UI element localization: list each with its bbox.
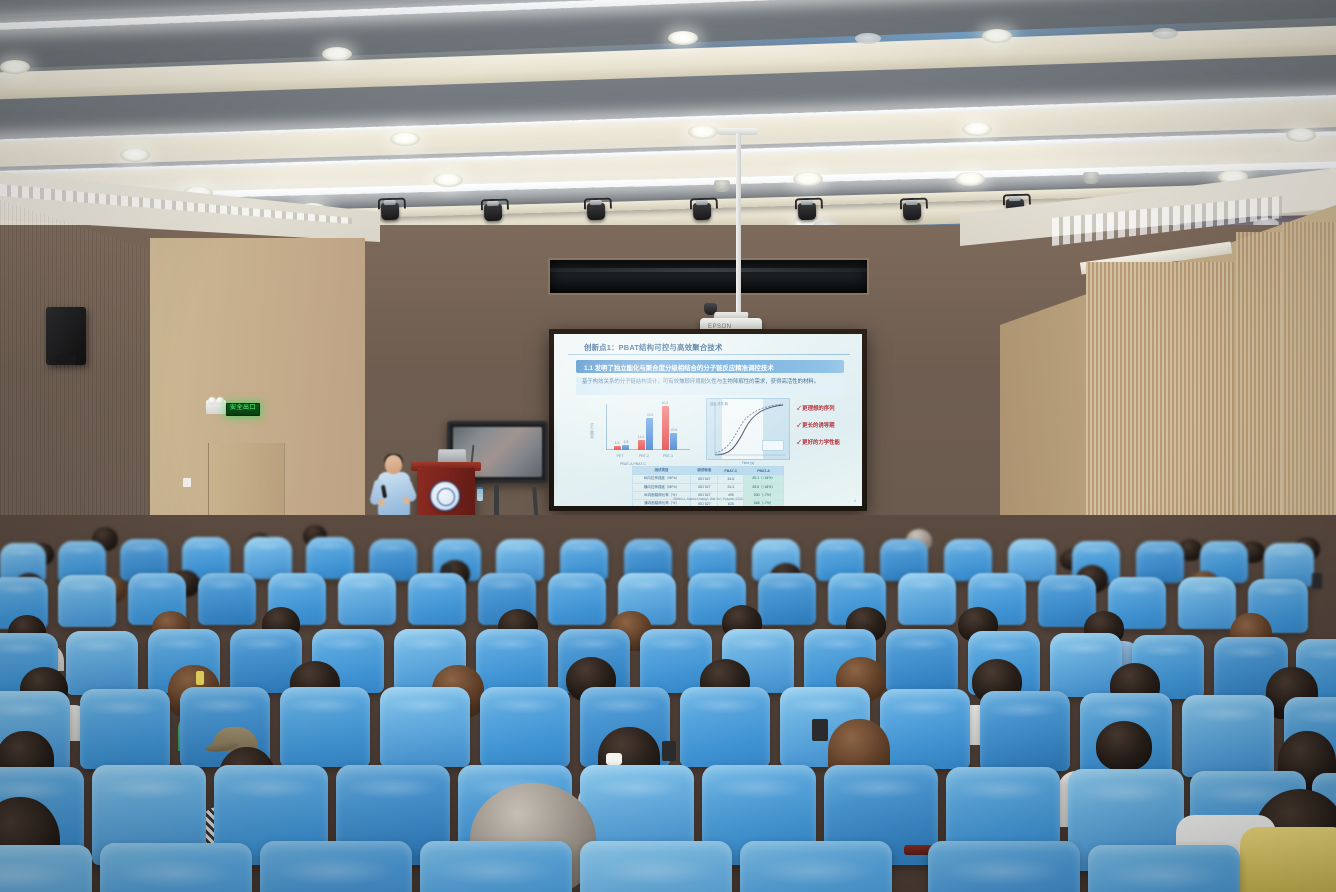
table-cell: 40.1（↑16%）: [744, 475, 784, 483]
bar-red: [638, 440, 645, 450]
seat[interactable]: [408, 573, 466, 625]
slide-title-rule: [568, 354, 850, 355]
downlight: [962, 122, 992, 136]
smoke-detector-icon: [855, 33, 881, 44]
downlight: [1286, 128, 1316, 142]
auditorium-photo: 安全出口 EPSON 创新点1：PBAT结构可控与高效聚合技术 1.1 发明了独…: [0, 0, 1336, 892]
bar-value: 11.4: [638, 435, 644, 439]
table-header-cell: PBAT-A: [744, 467, 784, 475]
seat[interactable]: [58, 575, 116, 627]
seat[interactable]: [880, 689, 970, 769]
projection-screen: 创新点1：PBAT结构可控与高效聚合技术 1.1 发明了独立酯化与聚合度分级相结…: [554, 334, 862, 506]
seat[interactable]: [0, 845, 92, 892]
table-cell: ISO 527: [691, 483, 718, 491]
bar-value: 4.3: [615, 441, 620, 445]
hair-clip: [196, 671, 204, 685]
bar-value: 43.9: [647, 413, 654, 417]
table-cell: 横向拉伸强度（MPa）: [633, 483, 691, 491]
line-chart-xlabel: Time (s): [742, 461, 754, 465]
line-chart-legend: [762, 440, 784, 451]
podium-emblem: [430, 481, 460, 511]
bar-group-label: PBT-2: [639, 454, 649, 458]
led-display-band: [548, 258, 869, 295]
seat[interactable]: [260, 841, 412, 892]
exit-sign: 安全出口: [226, 403, 260, 416]
seat[interactable]: [548, 573, 606, 625]
hair-tie: [606, 753, 622, 765]
downlight: [982, 29, 1012, 43]
seat[interactable]: [758, 573, 816, 625]
seat[interactable]: [66, 631, 138, 695]
projection-screen-frame: 创新点1：PBAT结构可控与高效聚合技术 1.1 发明了独立酯化与聚合度分级相结…: [549, 329, 867, 511]
table-row: 横向拉伸强度（MPa） ISO 527 24.3 28.6（↑18%）: [633, 483, 784, 491]
downlight: [322, 47, 352, 61]
seat[interactable]: [480, 687, 570, 767]
audience-shoulders: [1240, 827, 1336, 892]
table-cell: ISO 527: [691, 475, 718, 483]
seat[interactable]: [898, 573, 956, 625]
seat[interactable]: [80, 689, 170, 769]
seat[interactable]: [1178, 577, 1236, 629]
slide-body-box: 基于构效关系的分子链结构设计，可有效兼顾环境耐久性与生物降解性的需求，获得高活性…: [576, 377, 844, 395]
seat[interactable]: [740, 841, 892, 892]
slide-subtitle: 1.1 发明了独立酯化与聚合度分级相结合的分子链反应精准调控技术: [576, 360, 844, 372]
slide-body-text: 基于构效关系的分子链结构设计，可有效兼顾环境耐久性与生物降解性的需求，获得高活性…: [576, 377, 844, 388]
downlight: [433, 173, 463, 187]
smartphone: [1312, 573, 1322, 589]
table-cell: 28.6（↑18%）: [744, 483, 784, 491]
slide-bullet: ✓ 更好的力学性能: [797, 438, 851, 446]
seat[interactable]: [980, 691, 1070, 771]
table-row: 纵向拉伸强度（MPa） ISO 527 34.6 40.1（↑16%）: [633, 475, 784, 483]
bar-group-label: PBT-3: [663, 454, 673, 458]
slide-line-chart: 结晶 诱导 期 Time (s): [706, 398, 790, 460]
sprinkler-icon: [714, 180, 730, 192]
table-cell: 530（↑7%）: [744, 491, 784, 499]
table-cell: 668（↑7%）: [744, 499, 784, 506]
seat[interactable]: [198, 573, 256, 625]
bar-blue: [622, 445, 629, 450]
smartphone: [662, 741, 676, 761]
stage-spotlight: [481, 197, 506, 224]
water-bottle: [477, 487, 483, 501]
downlight: [955, 172, 985, 186]
slide-title: 创新点1：PBAT结构可控与高效聚合技术: [584, 342, 839, 353]
table-cell: 24.3: [718, 483, 744, 491]
seat[interactable]: [338, 573, 396, 625]
bar-value: 5.8: [624, 440, 629, 444]
right-acoustic-slats: [1282, 222, 1336, 552]
seat[interactable]: [380, 687, 470, 767]
bar-value: 20.6: [671, 428, 678, 432]
slide-bar-chart: 含量 (%) 4.3 5.8 PET 11.4 43.9 PBT-2 60.8 …: [590, 398, 694, 460]
right-acoustic-slats: [1236, 232, 1282, 552]
light-switch[interactable]: [183, 478, 191, 487]
table-header-cell: 测试项目: [633, 467, 691, 475]
downlight: [120, 148, 150, 162]
stage-spotlight: [584, 196, 609, 223]
bar-red: [662, 406, 669, 450]
downlight: [688, 125, 718, 139]
stage-spotlight: [795, 196, 820, 223]
table-header-row: 测试项目 测试标准 PBAT-C PBAT-A: [633, 467, 784, 475]
projector-mount-pole: [736, 133, 741, 323]
seat[interactable]: [1088, 845, 1240, 892]
seat[interactable]: [280, 687, 370, 767]
seat[interactable]: [886, 629, 958, 693]
seat[interactable]: [1182, 695, 1274, 777]
bar-blue: [670, 433, 677, 450]
downlight: [793, 172, 823, 186]
slide-bullet: ✓ 更理想的序列: [797, 404, 851, 412]
smoke-detector-icon: [1152, 28, 1178, 39]
smartphone: [812, 719, 828, 741]
seat[interactable]: [420, 841, 572, 892]
slide-citation: Binfei Li, Xianbo Huang*, Wei Yu*, Polym…: [674, 497, 743, 501]
seat[interactable]: [100, 843, 252, 892]
bar-chart-ylabel: 含量 (%): [589, 423, 595, 438]
slide-bullet-list: ✓ 更理想的序列 ✓ 更长的诱导期 ✓ 更好的力学性能: [797, 404, 851, 455]
slide-subtitle-bar: 1.1 发明了独立酯化与聚合度分级相结合的分子链反应精准调控技术: [576, 360, 844, 373]
bar-blue: [646, 418, 653, 450]
table-cell: 34.6: [718, 475, 744, 483]
stage-spotlight: [900, 196, 925, 223]
table-header-cell: 测试标准: [691, 467, 718, 475]
wall-speaker-icon: [46, 307, 86, 365]
bar-red: [614, 446, 621, 450]
audience-head: [1096, 721, 1152, 771]
exit-sign-label: 安全出口: [227, 404, 259, 413]
slide-bullet: ✓ 更长的诱导期: [797, 421, 851, 429]
table-cell: 纵向拉伸强度（MPa）: [633, 475, 691, 483]
emergency-light-icon: [206, 400, 226, 414]
seat[interactable]: [680, 687, 770, 767]
table-header-cell: PBAT-C: [718, 467, 744, 475]
downlight: [0, 60, 30, 74]
seat[interactable]: [580, 841, 732, 892]
seat[interactable]: [928, 841, 1080, 892]
seat[interactable]: [476, 629, 548, 693]
stage-spotlight: [690, 196, 715, 223]
bar-value: 60.8: [662, 401, 669, 405]
bar-group-label: PET: [617, 454, 624, 458]
stage-spotlight: [378, 196, 403, 223]
downlight: [668, 31, 698, 45]
audience-seating: [0, 515, 1336, 892]
downlight: [390, 132, 420, 146]
slide-page-number: 6: [854, 499, 856, 503]
sprinkler-icon: [1083, 172, 1099, 184]
